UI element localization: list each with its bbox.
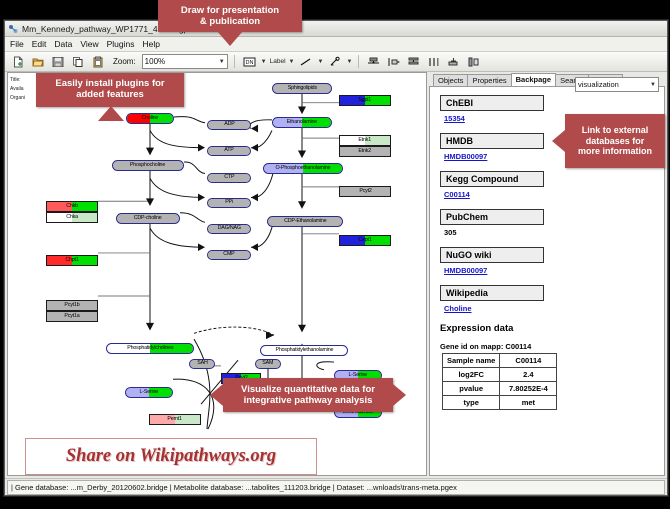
new-icon[interactable] xyxy=(9,53,26,70)
metabolite-node-ethanolamine_top[interactable]: Ethanolamine xyxy=(272,117,332,128)
node-label: Pemt1 xyxy=(168,417,182,422)
order-icon[interactable] xyxy=(445,53,462,70)
save-icon[interactable] xyxy=(49,53,66,70)
metabolite-node-ctp[interactable]: CTP xyxy=(207,173,251,183)
menu-item-plugins[interactable]: Plugins xyxy=(107,39,135,49)
line-icon[interactable] xyxy=(297,53,314,70)
label-tool-label[interactable]: Label xyxy=(270,58,286,65)
gene-node-chkb[interactable]: Chkb xyxy=(46,201,98,212)
node-label: SAH xyxy=(197,361,207,366)
node-label: Pcyt2 xyxy=(359,189,371,194)
node-label: CTP xyxy=(224,175,234,180)
metabolite-node-adp[interactable]: ADP xyxy=(207,120,251,130)
callout-plugins-arrow xyxy=(98,106,124,121)
callout-links: Link to external databases for more info… xyxy=(565,114,665,168)
status-bar: | Gene database: ...m_Derby_20120602.bri… xyxy=(5,478,667,495)
metabolite-node-l_serine_left[interactable]: L-Serine xyxy=(125,387,173,398)
gene-node-etnk1[interactable]: Etnk1 xyxy=(339,135,391,146)
datanode-chevron-down-icon[interactable]: ▼ xyxy=(261,59,267,65)
gene-node-cept1[interactable]: Cept1 xyxy=(339,235,391,246)
gene-node-pemt1[interactable]: Pemt1 xyxy=(149,414,201,425)
node-label: ATP xyxy=(224,148,233,153)
gene-id-label: Gene id on mapp: C00114 xyxy=(440,342,664,351)
node-label: Chpt1 xyxy=(65,258,78,263)
callout-plugins-text: Easily install plugins for added feature… xyxy=(55,78,164,100)
table-row: type met xyxy=(443,396,557,410)
group-icon[interactable] xyxy=(425,53,442,70)
backpage-header-kegg: Kegg Compound xyxy=(440,171,544,187)
node-label: Ethanolamine xyxy=(287,120,317,125)
expr-name-3: type xyxy=(443,396,500,410)
metabolite-node-ppi[interactable]: PPi xyxy=(207,198,251,208)
menu-item-edit[interactable]: Edit xyxy=(32,39,47,49)
backpage-header-hmdb: HMDB xyxy=(440,133,544,149)
tab-backpage[interactable]: Backpage xyxy=(511,73,556,86)
chevron-down-icon: ▼ xyxy=(650,82,656,88)
metabolite-node-o_phosphoethanolamine[interactable]: O-Phosphoethanolamine xyxy=(263,163,343,174)
node-label: Etnk2 xyxy=(359,149,372,154)
backpage-header-nugo: NuGO wiki xyxy=(440,247,544,263)
expr-name-0: Sample name xyxy=(443,354,500,368)
title-bar: Mm_Kennedy_pathway_WP1771_45176.gpml xyxy=(5,21,667,37)
menu-item-help[interactable]: Help xyxy=(143,39,160,49)
metabolite-node-choline_top[interactable]: Choline xyxy=(126,113,174,124)
node-label: DAG/NAG xyxy=(217,226,240,231)
callout-draw: Draw for presentation & publication xyxy=(158,0,302,32)
status-bar-inner: | Gene database: ...m_Derby_20120602.bri… xyxy=(7,480,665,495)
gene-node-pcyt1a[interactable]: Pcyt1a xyxy=(46,311,98,322)
menu-item-data[interactable]: Data xyxy=(54,39,72,49)
svg-text:DN: DN xyxy=(245,60,253,66)
metabolite-node-sam[interactable]: SAM xyxy=(255,359,281,369)
tool-bar: Zoom: 100% ▼ DN ▼ Label ▼ ▼ ▼ xyxy=(5,52,667,72)
stack-icon[interactable] xyxy=(405,53,422,70)
backpage-section-pubchem: PubChem 305 xyxy=(440,207,664,237)
metabolite-node-dagnag[interactable]: DAG/NAG xyxy=(207,224,251,234)
node-label: Phosphocholine xyxy=(130,163,165,168)
tab-objects[interactable]: Objects xyxy=(433,74,468,86)
backpage-header-wikipedia: Wikipedia xyxy=(440,285,544,301)
gene-node-pcyt1b[interactable]: Pcyt1b xyxy=(46,300,98,311)
tab-properties[interactable]: Properties xyxy=(467,74,511,86)
expr-name-1: log2FC xyxy=(443,368,500,382)
zoom-label: Zoom: xyxy=(113,57,136,66)
metabolite-node-phosphatidylcholines[interactable]: Phosphatidylcholines xyxy=(106,343,194,354)
backpage-section-kegg: Kegg Compound C00114 xyxy=(440,169,664,199)
node-label: CDP-choline xyxy=(134,216,162,221)
open-icon[interactable] xyxy=(29,53,46,70)
callout-visualize-arrow-left xyxy=(210,384,223,406)
node-label: Pcyt1a xyxy=(64,314,79,319)
node-label: O-Phosphoethanolamine xyxy=(276,166,331,171)
pubchem-value: 305 xyxy=(444,228,664,237)
metabolite-node-atp[interactable]: ATP xyxy=(207,146,251,156)
table-row: pvalue 7.80252E-4 xyxy=(443,382,557,396)
callout-links-arrow xyxy=(552,130,565,152)
callout-visualize-arrow-right xyxy=(393,384,406,406)
application-window: Mm_Kennedy_pathway_WP1771_45176.gpml Fil… xyxy=(4,20,668,496)
expr-value-3: met xyxy=(500,396,557,410)
toolbar-separator xyxy=(234,55,235,68)
distribute-icon[interactable] xyxy=(385,53,402,70)
node-label: ADP xyxy=(224,122,234,127)
node-label: Sgpl1 xyxy=(359,98,372,103)
expr-value-1: 2.4 xyxy=(500,368,557,382)
table-row: log2FC 2.4 xyxy=(443,368,557,382)
copy-icon[interactable] xyxy=(69,53,86,70)
status-text: | Gene database: ...m_Derby_20120602.bri… xyxy=(11,483,457,492)
metabolite-node-phosphatidylethanolamine[interactable]: Phosphatidylethanolamine xyxy=(260,345,348,356)
backpage-section-nugo: NuGO wiki HMDB00097 xyxy=(440,245,664,275)
node-label: PPi xyxy=(225,200,233,205)
node-label: Etnk1 xyxy=(359,138,372,143)
node-label: CMP xyxy=(223,252,234,257)
canvas-info-organism: Organi xyxy=(10,95,25,101)
backpage-header-pubchem: PubChem xyxy=(440,209,544,225)
node-label: Phosphatidylethanolamine xyxy=(275,348,333,353)
node-label: L-Serine xyxy=(140,390,159,395)
zoom-combobox[interactable]: 100% ▼ xyxy=(142,54,228,69)
anchor-chevron-down-icon[interactable]: ▼ xyxy=(346,59,352,65)
callout-visualize-text: Visualize quantitative data for integrat… xyxy=(241,384,375,406)
canvas-info-title: Title: xyxy=(10,77,21,83)
gene-node-pcyt2[interactable]: Pcyt2 xyxy=(339,186,391,197)
node-label: Chkb xyxy=(66,204,78,209)
pathway-canvas[interactable]: Title: Availa Organi xyxy=(7,72,427,476)
expression-table: Sample name C00114 log2FC 2.4 pvalue 7.8… xyxy=(442,353,557,410)
node-label: Sphingolipids xyxy=(287,86,316,91)
line-chevron-down-icon[interactable]: ▼ xyxy=(317,59,323,65)
callout-draw-arrow xyxy=(217,31,243,46)
node-label: Cept1 xyxy=(358,238,371,243)
metabolite-node-cdp_choline[interactable]: CDP-choline xyxy=(116,213,180,224)
zoom-value: 100% xyxy=(145,57,165,66)
gene-node-sgpl1[interactable]: Sgpl1 xyxy=(339,95,391,106)
node-label: Choline xyxy=(142,116,159,121)
expression-data-header: Expression data xyxy=(440,323,664,334)
menu-bar: File Edit Data View Plugins Help xyxy=(5,37,667,52)
callout-plugins: Easily install plugins for added feature… xyxy=(36,72,184,107)
table-row: Sample name C00114 xyxy=(443,354,557,368)
node-label: Pcyt1b xyxy=(64,303,79,308)
node-label: Chka xyxy=(66,215,78,220)
expr-value-0: C00114 xyxy=(500,354,557,368)
expr-value-2: 7.80252E-4 xyxy=(500,382,557,396)
anchor-icon[interactable] xyxy=(326,53,343,70)
expr-name-2: pvalue xyxy=(443,382,500,396)
callout-draw-text: Draw for presentation & publication xyxy=(181,5,279,27)
metabolite-node-sphingolipids[interactable]: Sphingolipids xyxy=(272,83,332,94)
gene-node-chka[interactable]: Chka xyxy=(46,212,98,223)
chevron-down-icon: ▼ xyxy=(219,59,225,65)
screenshot-root: Mm_Kennedy_pathway_WP1771_45176.gpml Fil… xyxy=(0,0,670,509)
gene-node-etnk2[interactable]: Etnk2 xyxy=(339,146,391,157)
node-label: SAM xyxy=(263,361,274,366)
node-label: CDP-Ethanolamine xyxy=(284,219,326,224)
metabolite-node-sah[interactable]: SAH xyxy=(189,359,215,369)
gene-node-chpt1[interactable]: Chpt1 xyxy=(46,255,98,266)
datanode-icon[interactable]: DN xyxy=(241,53,258,70)
metabolite-node-cmp[interactable]: CMP xyxy=(207,250,251,260)
visualization-combobox[interactable]: visualization ▼ xyxy=(575,77,659,92)
callout-share: Share on Wikipathways.org xyxy=(25,438,317,475)
align-icon[interactable] xyxy=(365,53,382,70)
nugo-link[interactable]: HMDB00097 xyxy=(444,266,664,275)
label-chevron-down-icon[interactable]: ▼ xyxy=(289,59,295,65)
callout-share-text: Share on Wikipathways.org xyxy=(66,446,276,467)
backpage-section-wikipedia: Wikipedia Choline xyxy=(440,283,664,313)
node-label: Phosphatidylcholines xyxy=(127,346,173,351)
toolbar-separator-2 xyxy=(358,55,359,68)
menu-item-file[interactable]: File xyxy=(10,39,24,49)
backpage-header-chebi: ChEBI xyxy=(440,95,544,111)
canvas-info-availability: Availa xyxy=(10,86,24,92)
callout-visualize: Visualize quantitative data for integrat… xyxy=(223,378,393,412)
visualization-value: visualization xyxy=(578,80,619,89)
wikipedia-link[interactable]: Choline xyxy=(444,304,664,313)
zorder-icon[interactable] xyxy=(465,53,482,70)
paste-icon[interactable] xyxy=(89,53,106,70)
kegg-link[interactable]: C00114 xyxy=(444,190,664,199)
metabolite-node-phosphocholine[interactable]: Phosphocholine xyxy=(112,160,184,171)
metabolite-node-cdp_ethanolamine[interactable]: CDP-Ethanolamine xyxy=(267,216,343,227)
callout-links-text: Link to external databases for more info… xyxy=(578,125,652,157)
menu-item-view[interactable]: View xyxy=(80,39,98,49)
pathvisio-icon xyxy=(8,24,18,34)
